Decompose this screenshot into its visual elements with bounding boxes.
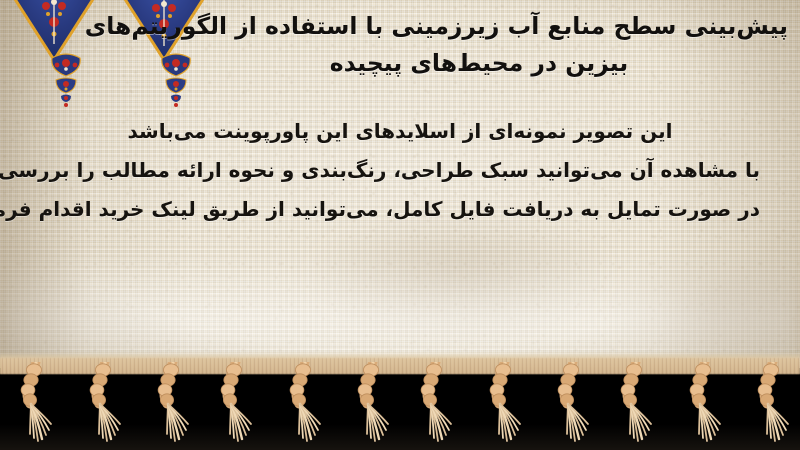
carpet-fringe-tassel-icon bbox=[610, 362, 668, 448]
slide-body-line-2: با مشاهده آن می‌توانید سبک طراحی، رنگ‌بن… bbox=[40, 151, 760, 190]
carpet-fringe-tassel-icon bbox=[79, 362, 137, 448]
carpet-fringe-tassel-icon bbox=[747, 362, 800, 448]
slide-title-line-2: بیزین در محیط‌های پیچیده bbox=[170, 45, 788, 82]
persian-carpet-pendant-icon bbox=[48, 52, 84, 112]
carpet-fringe-row bbox=[0, 362, 800, 450]
presentation-slide: پیش‌بینی سطح منابع آب زیرزمینی با استفاد… bbox=[0, 0, 800, 450]
carpet-fringe-tassel-icon bbox=[547, 362, 605, 448]
carpet-fringe-tassel-icon bbox=[147, 362, 205, 448]
slide-body-line-1: این تصویر نمونه‌ای از اسلایدهای این پاور… bbox=[40, 112, 760, 151]
carpet-fringe-tassel-icon bbox=[479, 362, 537, 448]
slide-body: این تصویر نمونه‌ای از اسلایدهای این پاور… bbox=[40, 112, 760, 229]
slide-title-line-1: پیش‌بینی سطح منابع آب زیرزمینی با استفاد… bbox=[170, 8, 788, 45]
carpet-fringe-tassel-icon bbox=[410, 362, 468, 448]
carpet-fringe-tassel-icon bbox=[279, 362, 337, 448]
slide-title: پیش‌بینی سطح منابع آب زیرزمینی با استفاد… bbox=[170, 8, 788, 82]
carpet-fringe-tassel-icon bbox=[210, 362, 268, 448]
carpet-fringe-tassel-icon bbox=[10, 362, 68, 448]
carpet-fringe-tassel-icon bbox=[347, 362, 405, 448]
carpet-fringe-tassel-icon bbox=[679, 362, 737, 448]
slide-body-line-3: در صورت تمایل به دریافت فایل کامل، می‌تو… bbox=[40, 190, 760, 229]
